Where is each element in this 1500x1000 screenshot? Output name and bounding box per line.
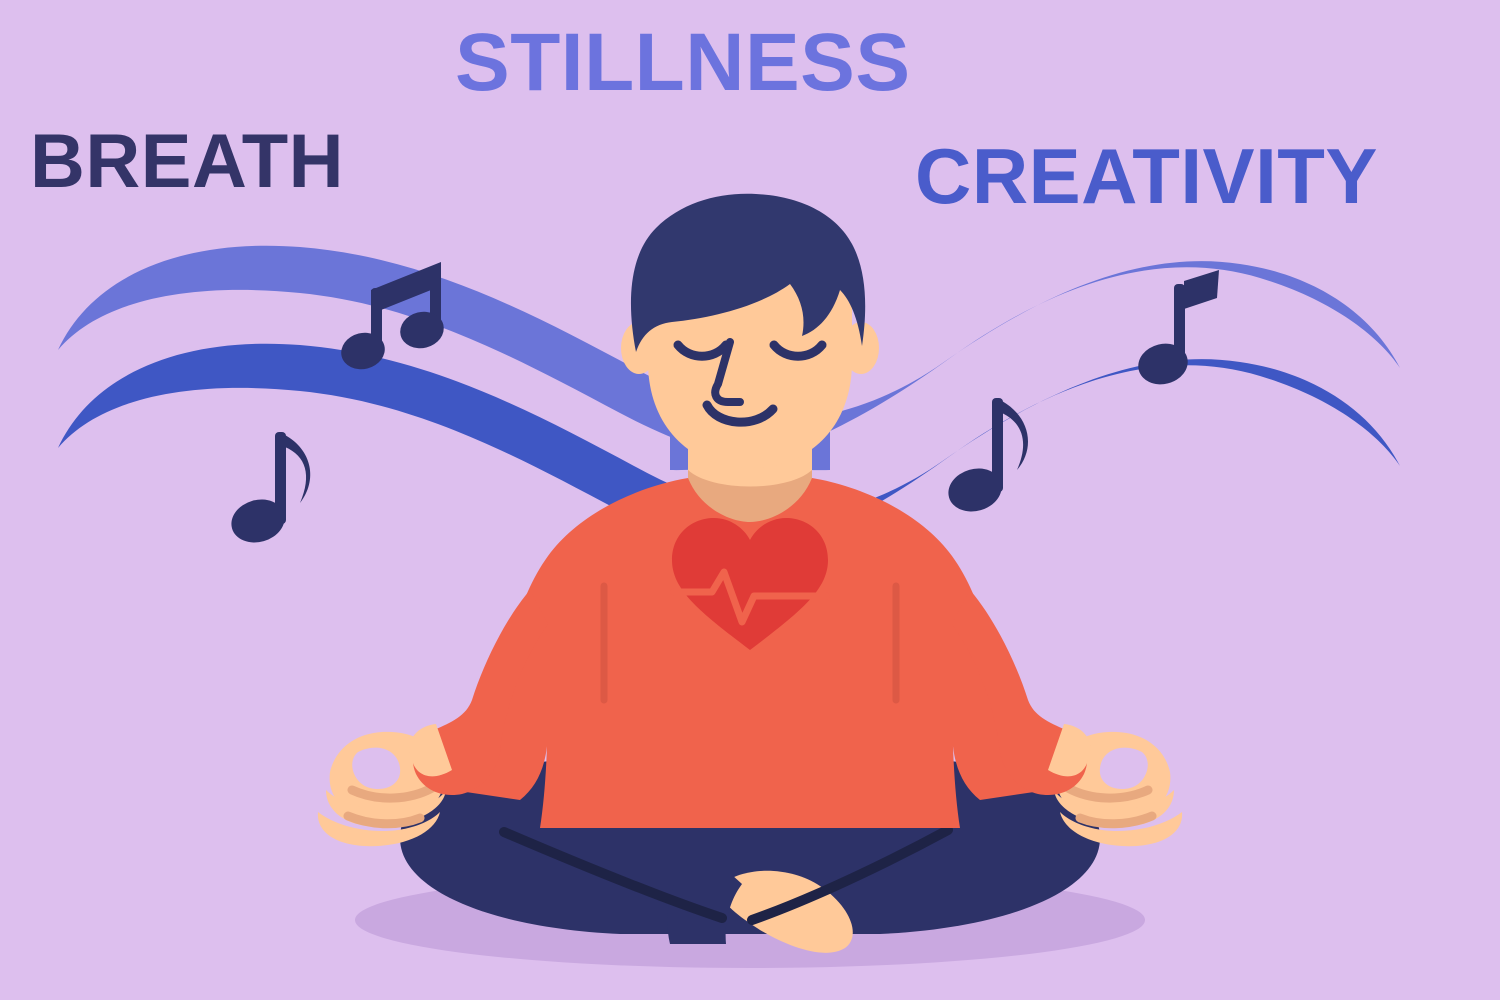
headline-stillness: STILLNESS: [455, 22, 911, 104]
headline-breath: BREATH: [30, 124, 344, 200]
headline-creativity: CREATIVITY: [915, 137, 1378, 215]
poster-canvas: BREATH STILLNESS CREATIVITY: [0, 0, 1500, 1000]
